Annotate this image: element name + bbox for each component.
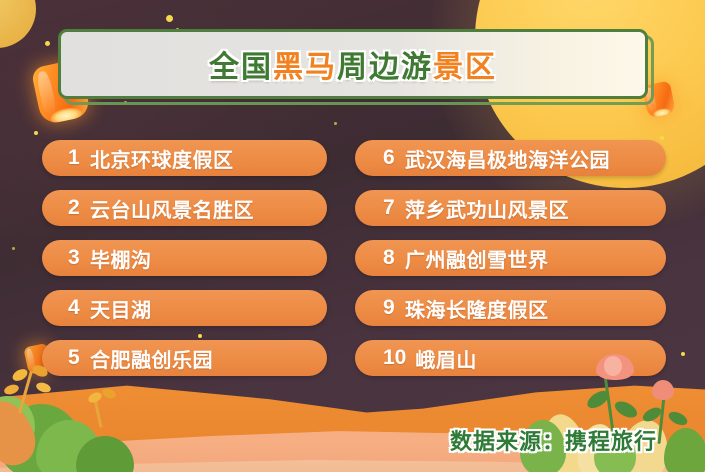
attraction-name: 武汉海昌极地海洋公园 — [405, 144, 610, 173]
title-segment-3: 周边游 — [337, 42, 433, 86]
attraction-name: 珠海长隆度假区 — [405, 294, 549, 323]
star-dot — [34, 131, 38, 135]
sprig-bud — [31, 363, 50, 379]
ranking-item[interactable]: 2 云台山风景名胜区 — [42, 190, 327, 226]
ranking-item[interactable]: 6 武汉海昌极地海洋公园 — [355, 140, 666, 176]
attraction-name: 天目湖 — [90, 294, 152, 323]
rank-number: 6 — [383, 146, 396, 170]
flower-bloom-highlight — [604, 356, 622, 376]
star-dot — [45, 41, 50, 46]
rank-number: 2 — [68, 196, 81, 220]
ranking-item[interactable]: 9 珠海长隆度假区 — [355, 290, 666, 326]
star-dot — [166, 15, 173, 22]
title-segment-1: 全国 — [209, 42, 273, 86]
rank-number: 1 — [68, 146, 81, 170]
title-segment-4: 景区 — [433, 42, 497, 86]
ranking-item[interactable]: 7 萍乡武功山风景区 — [355, 190, 666, 226]
ranking-item[interactable]: 1 北京环球度假区 — [42, 140, 327, 176]
title-banner: 全国黑马周边游景区 — [58, 29, 648, 99]
attraction-name: 萍乡武功山风景区 — [405, 194, 569, 223]
moon-secondary-icon — [0, 0, 36, 48]
rank-number: 7 — [383, 196, 396, 220]
ranking-item[interactable]: 4 天目湖 — [42, 290, 327, 326]
attraction-name: 广州融创雪世界 — [405, 244, 549, 273]
sprig-bud — [3, 383, 20, 396]
title-segment-2: 黑马 — [273, 42, 337, 86]
ranking-item[interactable]: 8 广州融创雪世界 — [355, 240, 666, 276]
attraction-name: 云台山风景名胜区 — [90, 194, 254, 223]
ranking-item[interactable]: 3 毕棚沟 — [42, 240, 327, 276]
rank-number: 9 — [383, 296, 396, 320]
page-title: 全国黑马周边游景区 — [58, 29, 648, 99]
leaf-cluster-left — [0, 352, 142, 472]
flower-leaf — [612, 398, 639, 421]
bush-leaf — [664, 428, 705, 472]
sprig-bud — [101, 387, 117, 401]
flower-leaf — [667, 409, 690, 428]
star-dot — [12, 247, 15, 250]
star-dot — [334, 122, 337, 125]
rank-number: 4 — [68, 296, 81, 320]
attraction-name: 北京环球度假区 — [90, 144, 234, 173]
flower-bud — [652, 380, 674, 400]
rank-number: 3 — [68, 246, 81, 270]
attraction-name: 毕棚沟 — [90, 244, 152, 273]
data-source-label: 数据来源：携程旅行 — [450, 424, 657, 456]
poster-canvas: 全国黑马周边游景区 1 北京环球度假区 2 云台山风景名胜区 3 毕棚沟 4 天… — [0, 0, 705, 472]
rank-number: 8 — [383, 246, 396, 270]
sprig-bud — [35, 381, 52, 394]
